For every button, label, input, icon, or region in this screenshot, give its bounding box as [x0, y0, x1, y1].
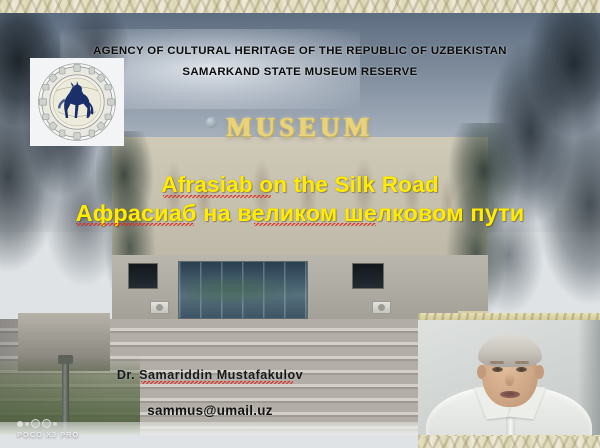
presenter-eyebrow-right — [515, 361, 529, 364]
facade-window-right — [352, 263, 384, 289]
presenter-name-wrap: Dr. Samariddin Mustafakulov — [117, 368, 303, 382]
air-conditioner-unit-right — [372, 301, 391, 314]
air-conditioner-unit-left — [150, 301, 169, 314]
camera-lens-ring-icon-2 — [42, 419, 51, 428]
presenter-nose — [505, 373, 514, 386]
presenter-eye-right — [516, 367, 527, 372]
spellcheck-underline-russian-1 — [76, 223, 194, 226]
camera-lens-small-dot-icon — [25, 422, 29, 426]
camera-flash-dot-icon — [53, 422, 57, 426]
presenter-ear-right — [535, 365, 544, 379]
camera-watermark-text: POCO X3 PRO — [17, 430, 79, 439]
museum-seal-icon — [37, 62, 117, 142]
presenter-ear-left — [477, 365, 486, 379]
presentation-slide-stage: MUSEUM AGENCY OF CULTURAL HERITAGE OF TH… — [0, 0, 600, 448]
slide-title-russian-wrap: Афрасиаб на великом шелковом пути — [76, 198, 525, 228]
museum-glass-entrance-doors — [178, 261, 308, 319]
presenter-block: Dr. Samariddin Mustafakulov sammus@umail… — [0, 366, 420, 418]
ornamental-border-top — [0, 0, 600, 13]
video-ornament-band-top — [418, 313, 600, 320]
presenter-video-overlay[interactable] — [418, 313, 600, 448]
slide-title-english-wrap: Afrasiab on the Silk Road — [161, 172, 439, 198]
presenter-email: sammus@umail.uz — [0, 403, 420, 418]
museum-logo-container — [30, 58, 124, 146]
facade-window-left — [128, 263, 158, 289]
presenter-eye-left — [492, 367, 503, 372]
slide-title-group: Afrasiab on the Silk Road Афрасиаб на ве… — [0, 172, 600, 228]
camera-lens-ring-icon — [31, 419, 40, 428]
presenter-name: Dr. Samariddin Mustafakulov — [117, 368, 303, 382]
slide-title-english: Afrasiab on the Silk Road — [161, 172, 439, 197]
camera-lens-dot-icon — [17, 421, 23, 427]
camera-watermark-icons — [17, 419, 79, 428]
presenter-eyebrow-left — [490, 361, 504, 364]
camera-watermark: POCO X3 PRO — [17, 419, 79, 439]
presenter-mouth — [500, 391, 520, 398]
spellcheck-underline-russian-2 — [254, 223, 376, 226]
spellcheck-underline-presenter-name — [141, 381, 293, 384]
ornamental-border-bottom-right — [418, 436, 600, 448]
